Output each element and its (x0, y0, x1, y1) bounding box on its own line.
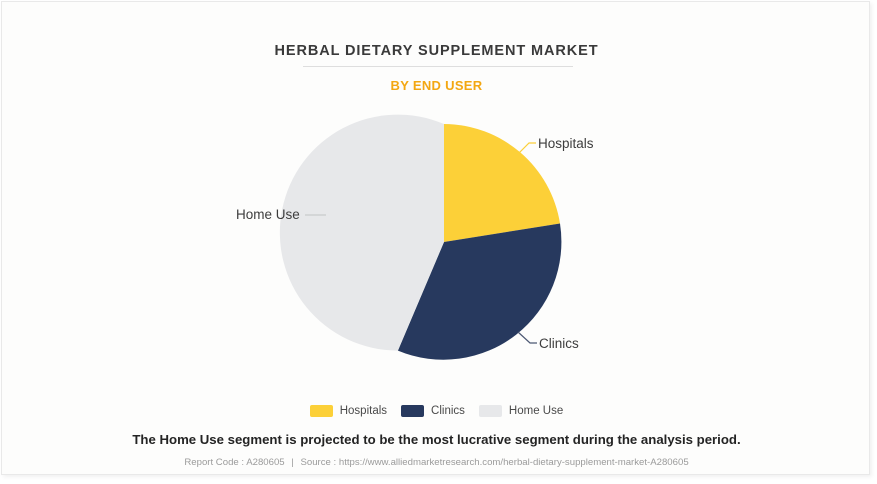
footer-separator: | (287, 457, 298, 468)
legend-swatch-clinics (401, 405, 424, 417)
leader-line-clinics (518, 332, 537, 343)
legend-item-home-use[interactable]: Home Use (479, 405, 563, 417)
pie-label-home-use: Home Use (236, 207, 300, 222)
legend-item-clinics[interactable]: Clinics (401, 405, 465, 417)
chart-card: HERBAL DIETARY SUPPLEMENT MARKET BY END … (1, 1, 870, 475)
legend-label-home-use: Home Use (509, 405, 563, 417)
legend-label-clinics: Clinics (431, 405, 465, 417)
chart-footer: Report Code : A280605 | Source : https:/… (2, 457, 871, 468)
chart-legend: Hospitals Clinics Home Use (2, 405, 871, 417)
pie-label-clinics: Clinics (539, 336, 579, 351)
legend-item-hospitals[interactable]: Hospitals (310, 405, 387, 417)
pie-label-hospitals: Hospitals (538, 136, 594, 151)
footer-source[interactable]: Source : https://www.alliedmarketresearc… (300, 457, 688, 468)
chart-caption: The Home Use segment is projected to be … (2, 432, 871, 447)
legend-swatch-home-use (479, 405, 502, 417)
footer-report-code: Report Code : A280605 (184, 457, 284, 468)
legend-label-hospitals: Hospitals (340, 405, 387, 417)
legend-swatch-hospitals (310, 405, 333, 417)
